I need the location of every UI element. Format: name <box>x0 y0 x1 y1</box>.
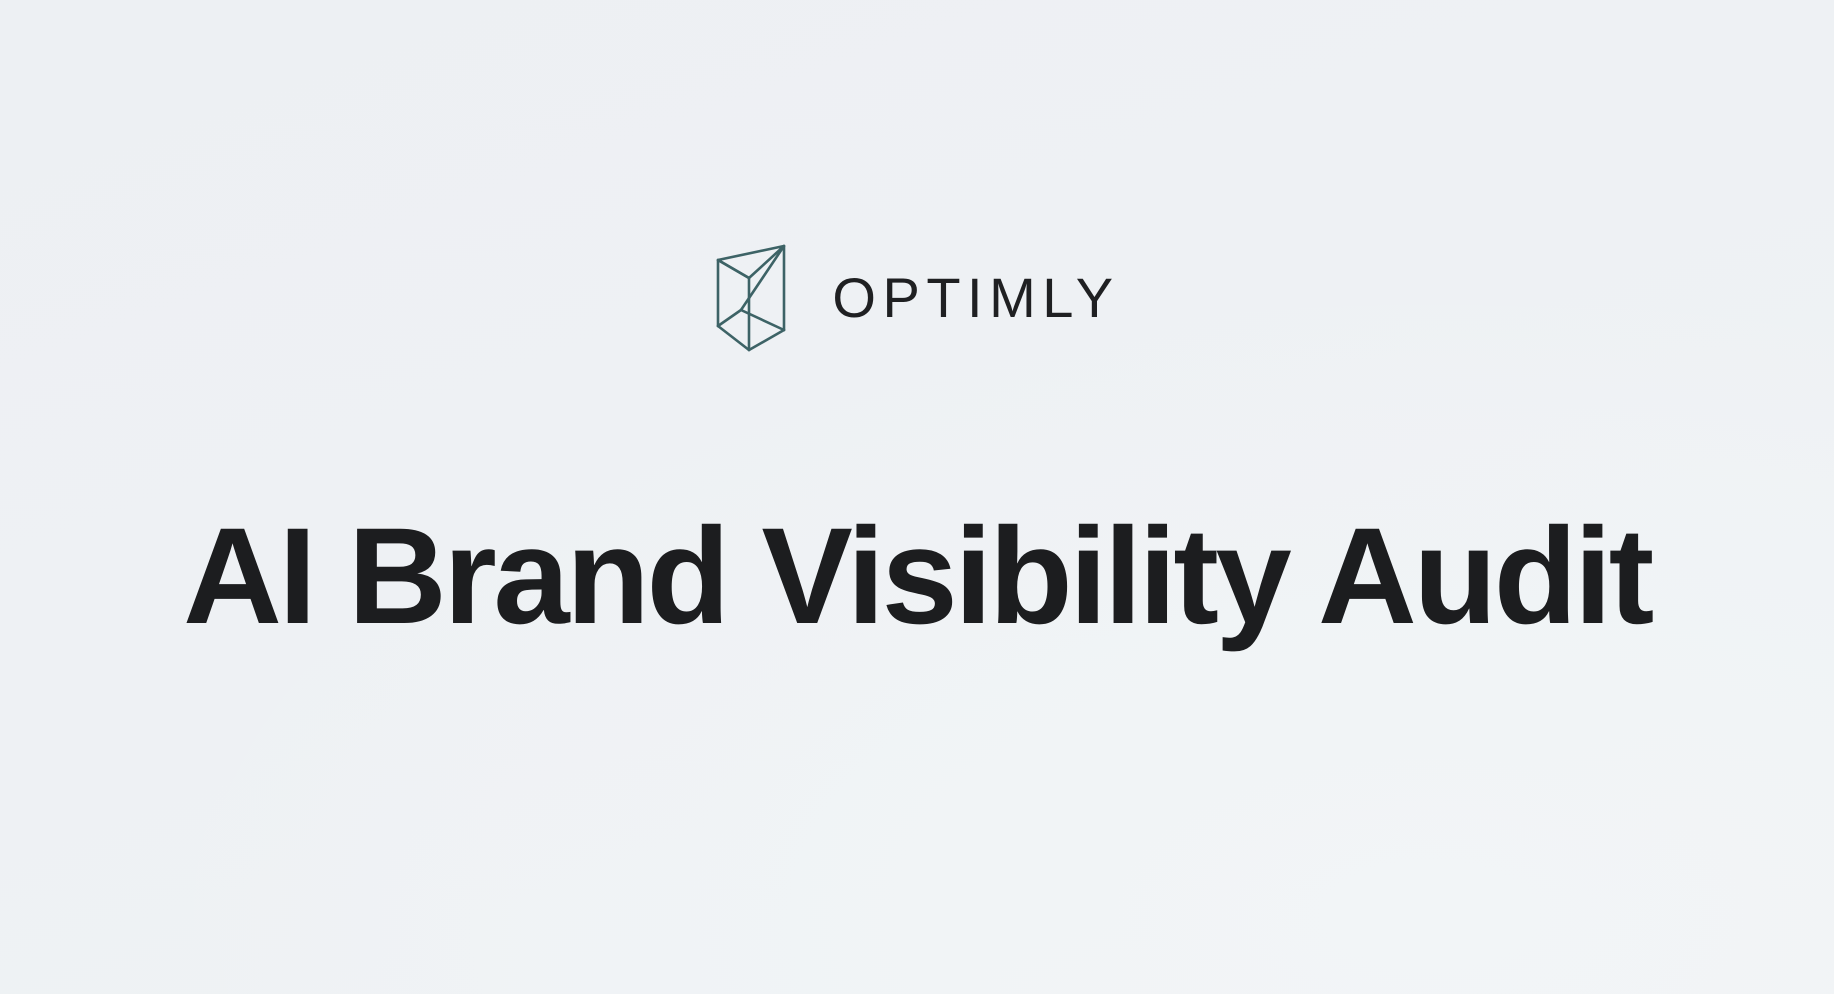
optimly-prism-logo-icon <box>714 238 790 356</box>
title-slide: OPTIMLY AI Brand Visibility Audit <box>0 0 1834 994</box>
brand-wordmark: OPTIMLY <box>832 270 1119 326</box>
brand-lockup: OPTIMLY <box>0 232 1834 362</box>
page-title: AI Brand Visibility Audit <box>0 496 1834 658</box>
